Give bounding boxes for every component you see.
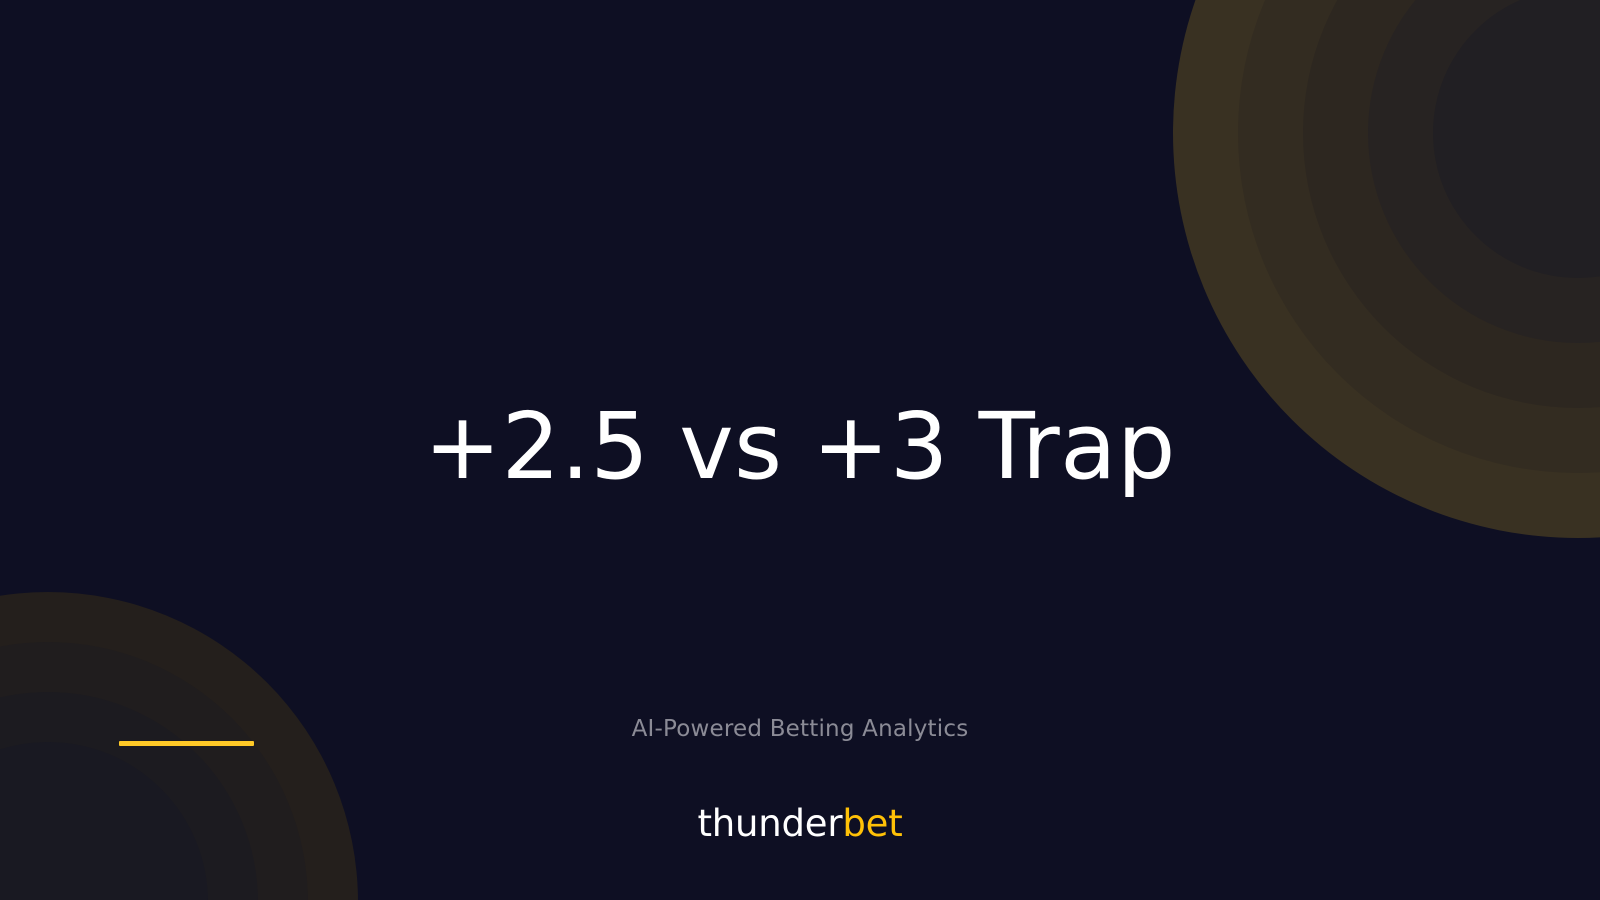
brand-logo-accent-text: bet [842, 802, 902, 845]
brand-logo-primary-text: thunder [697, 802, 842, 845]
subtitle-container: AI-Powered Betting Analytics [0, 716, 1600, 752]
subtitle-accent-underline [119, 741, 254, 746]
slide-title: +2.5 vs +3 Trap [0, 394, 1600, 500]
brand-logo-container: thunderbet [0, 802, 1600, 845]
presentation-slide: +2.5 vs +3 Trap AI-Powered Betting Analy… [0, 0, 1600, 900]
slide-subtitle: AI-Powered Betting Analytics [632, 716, 969, 742]
brand-logo: thunderbet [697, 802, 902, 845]
slide-content: +2.5 vs +3 Trap AI-Powered Betting Analy… [0, 0, 1600, 900]
